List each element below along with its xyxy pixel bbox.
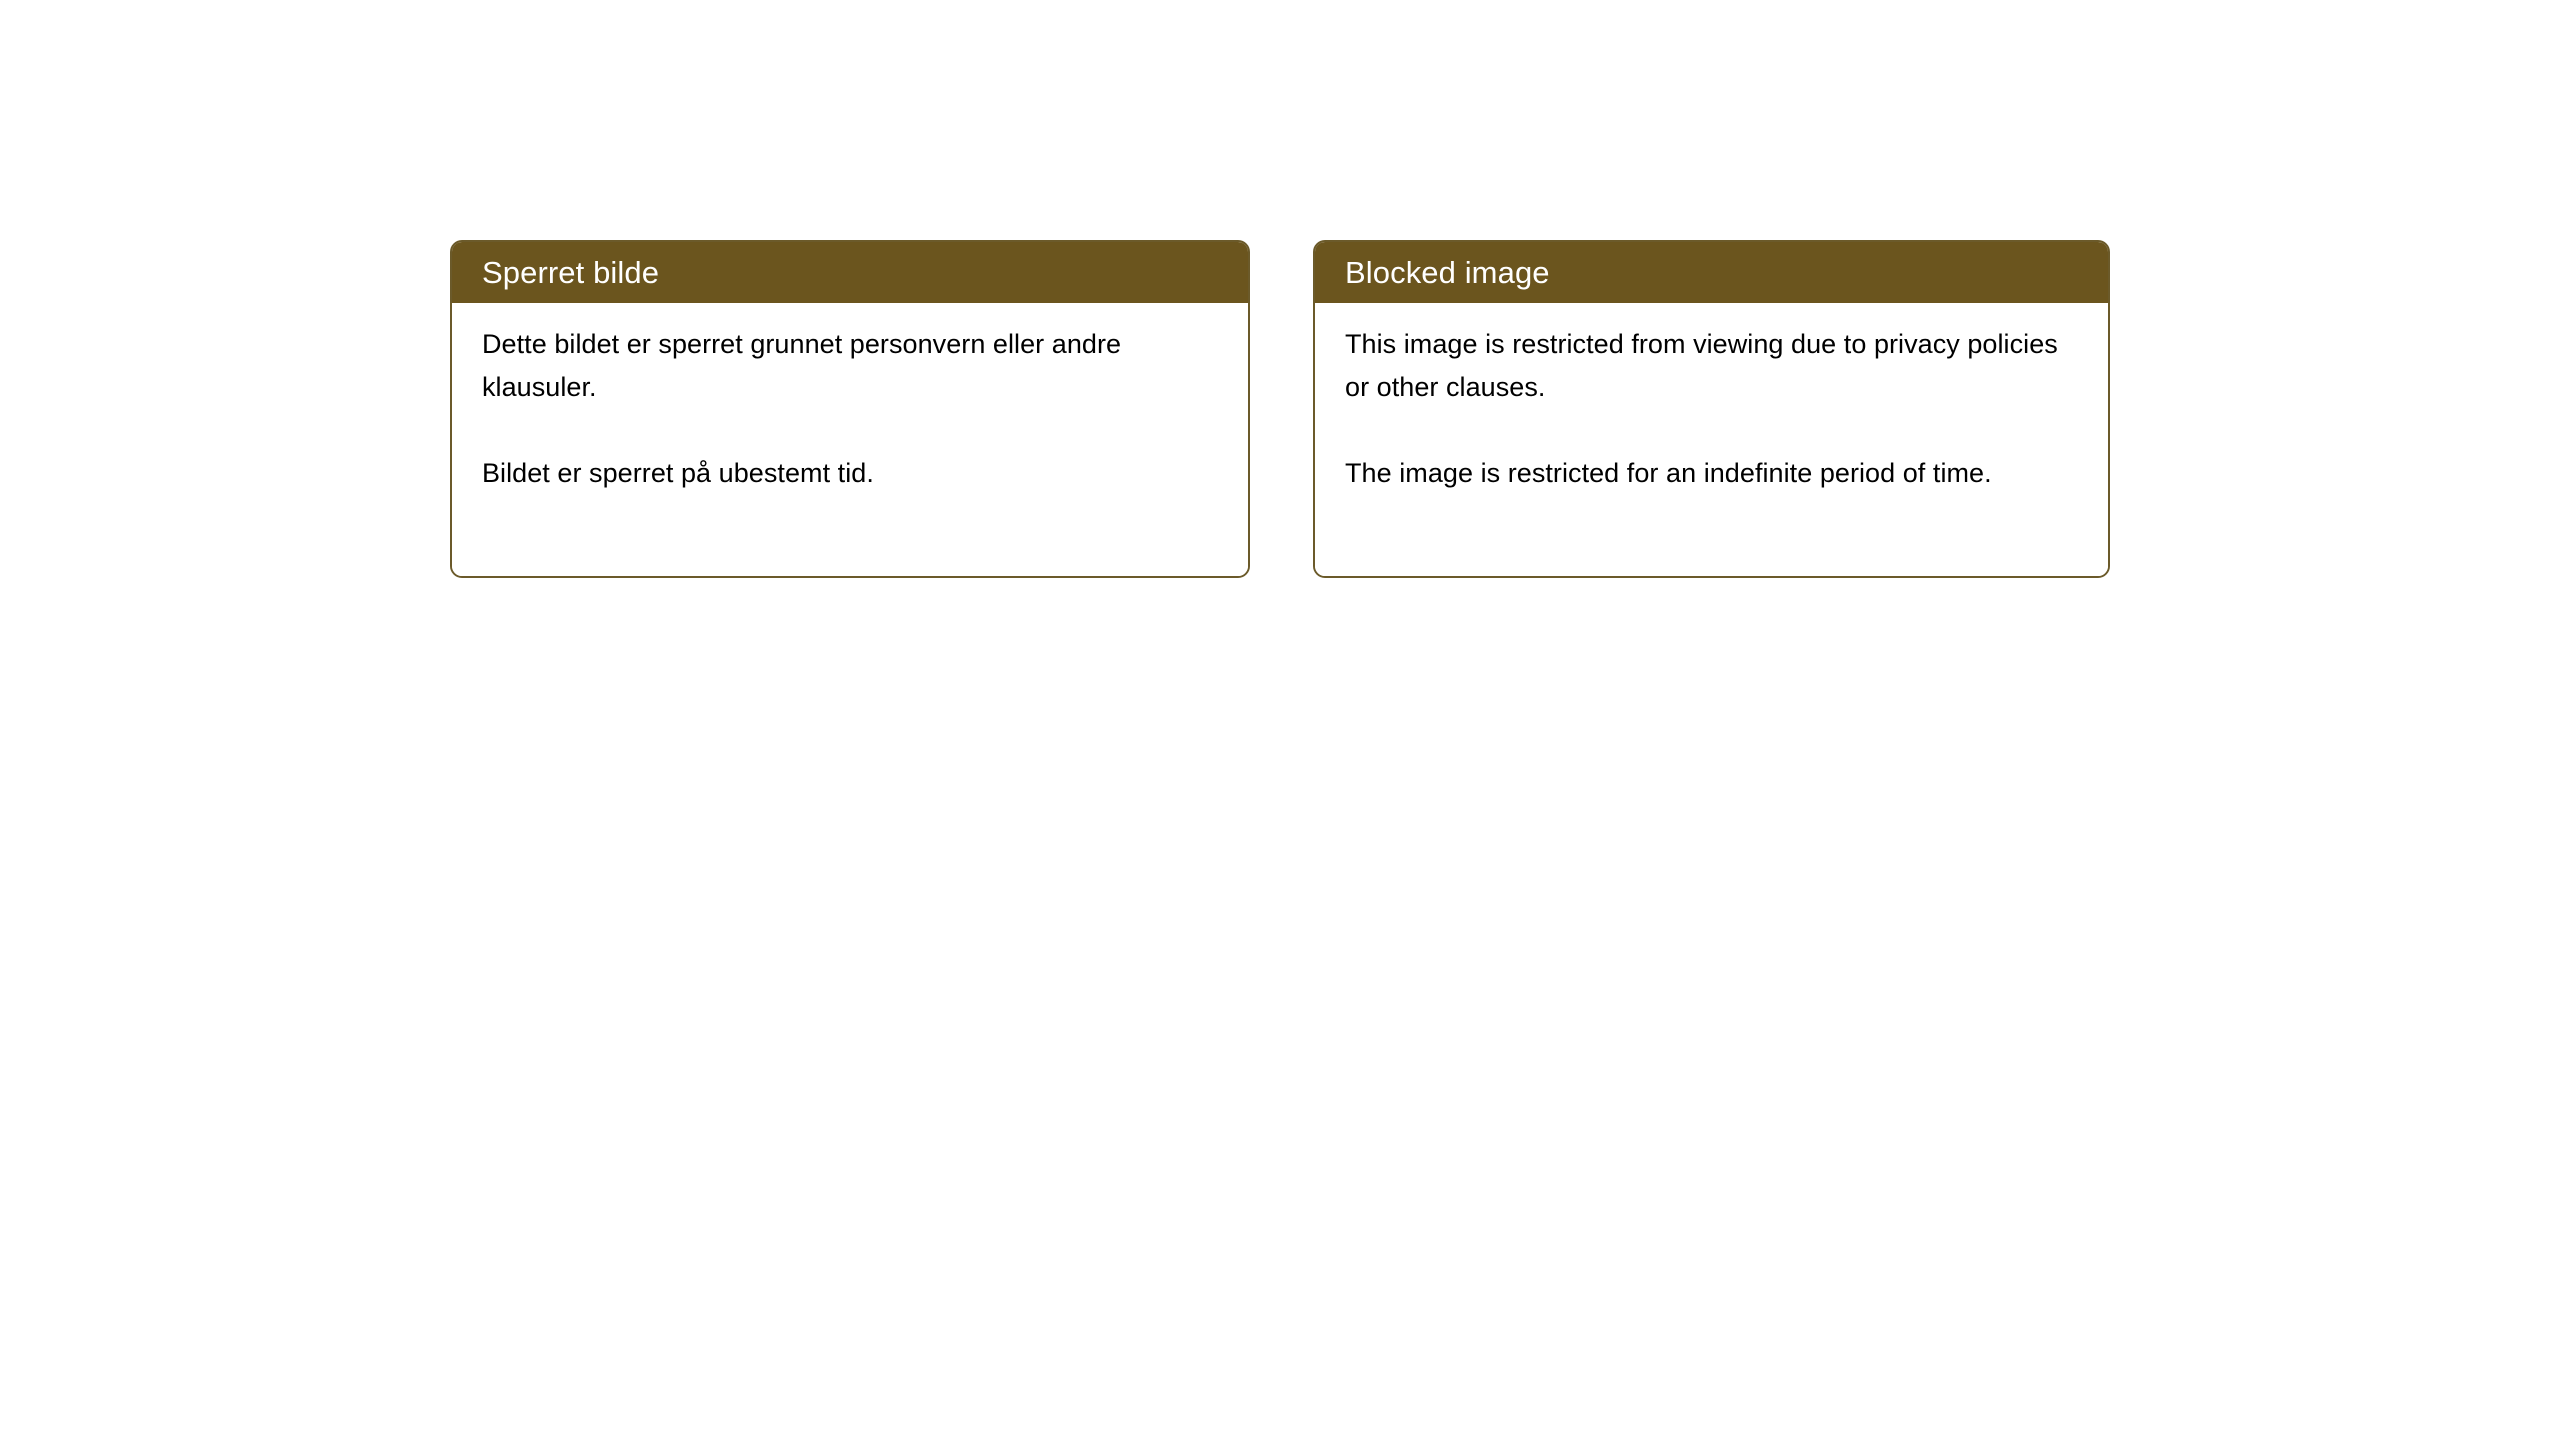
card-body-english: This image is restricted from viewing du… bbox=[1315, 303, 2108, 576]
card-paragraph-secondary-norwegian: Bildet er sperret på ubestemt tid. bbox=[482, 452, 1222, 495]
page-root: Sperret bilde Dette bildet er sperret gr… bbox=[0, 0, 2560, 1440]
blocked-image-card-english: Blocked image This image is restricted f… bbox=[1313, 240, 2110, 578]
card-title-norwegian: Sperret bilde bbox=[482, 257, 659, 288]
card-paragraph-secondary-english: The image is restricted for an indefinit… bbox=[1345, 452, 2082, 495]
blocked-image-card-norwegian: Sperret bilde Dette bildet er sperret gr… bbox=[450, 240, 1250, 578]
card-paragraph-primary-english: This image is restricted from viewing du… bbox=[1345, 323, 2082, 409]
blocked-image-notice-group: Sperret bilde Dette bildet er sperret gr… bbox=[450, 240, 2110, 578]
card-header-norwegian: Sperret bilde bbox=[452, 242, 1248, 303]
card-header-english: Blocked image bbox=[1315, 242, 2108, 303]
card-title-english: Blocked image bbox=[1345, 257, 1550, 288]
card-body-norwegian: Dette bildet er sperret grunnet personve… bbox=[452, 303, 1248, 576]
card-paragraph-primary-norwegian: Dette bildet er sperret grunnet personve… bbox=[482, 323, 1222, 409]
